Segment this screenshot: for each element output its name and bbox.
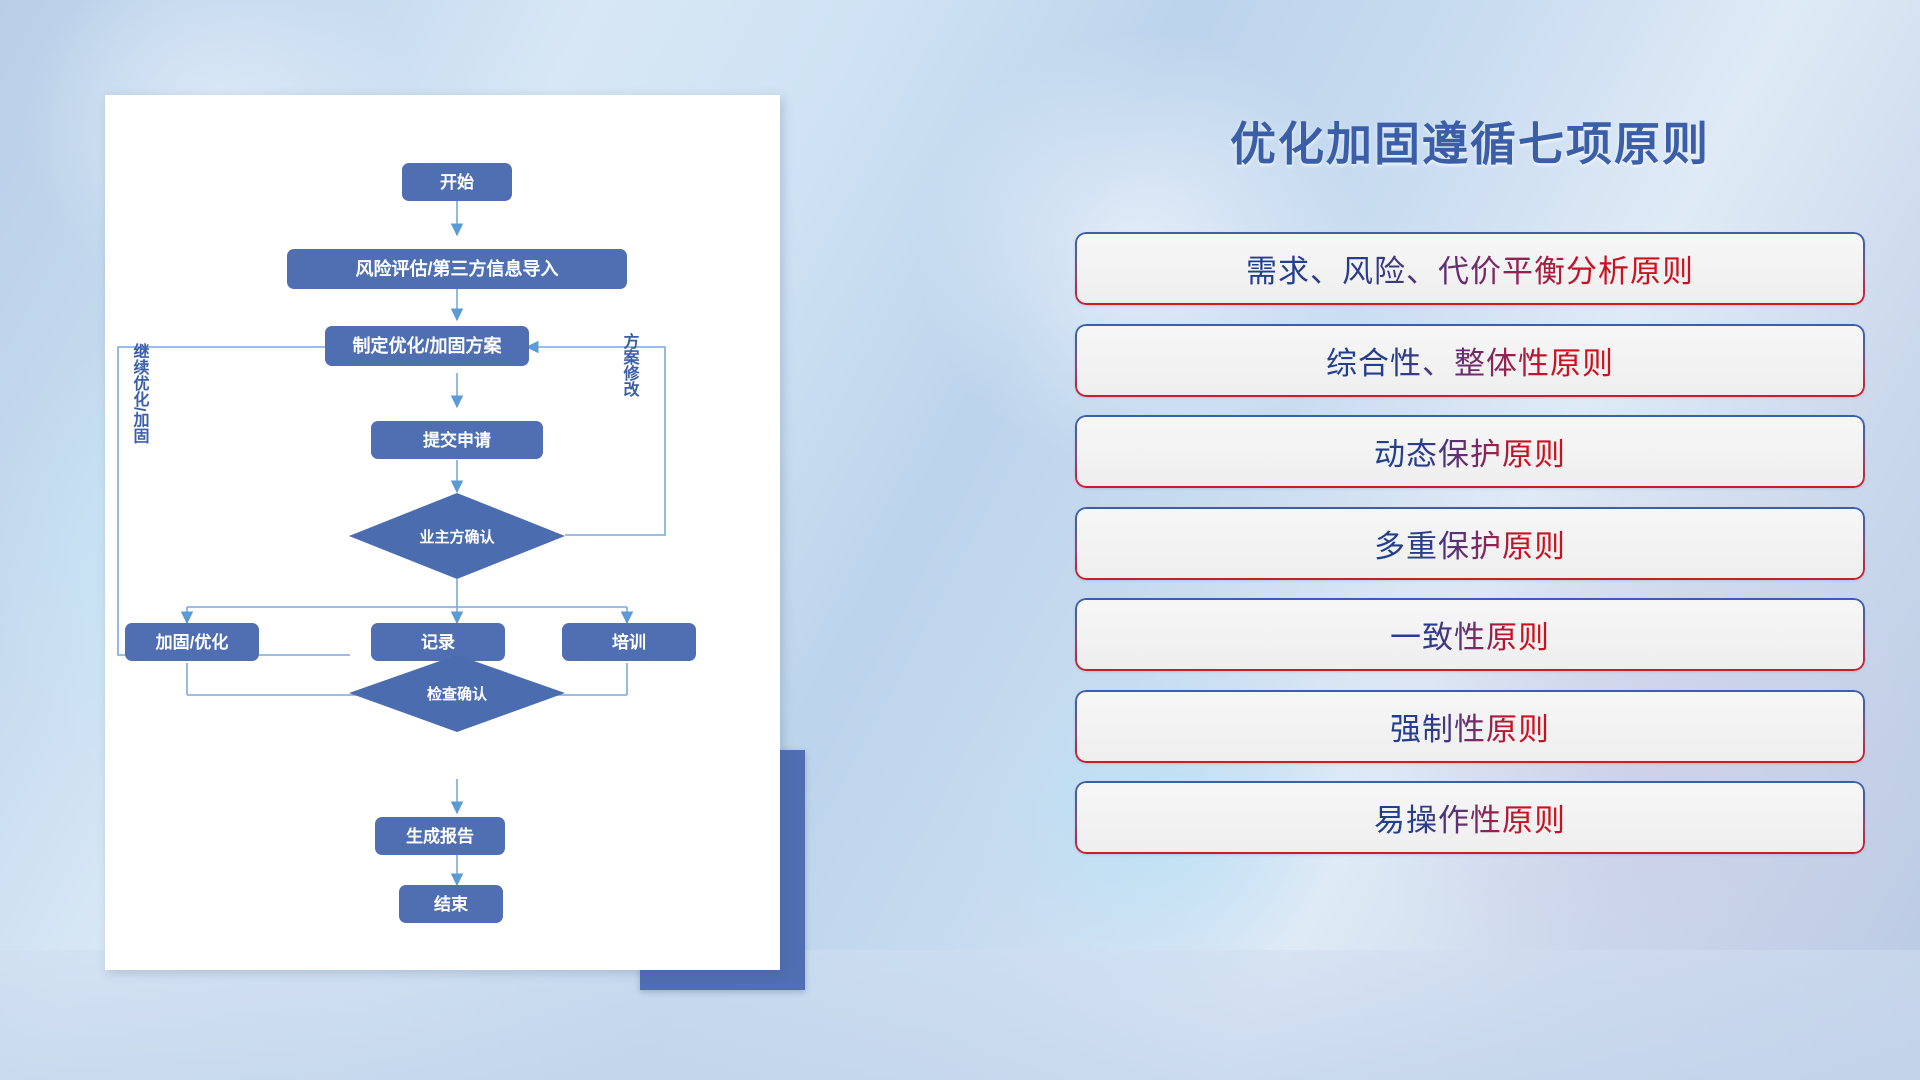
principle-item[interactable]: 多重保护原则 [1075, 507, 1865, 580]
node-inspect-confirm-label: 检查确认 [427, 685, 488, 703]
panel-title: 优化加固遵循七项原则 [1020, 108, 1920, 174]
flowchart-card: 开始 风险评估/第三方信息导入 制定优化/加固方案 提交申请 业主方确认 加固/ [105, 95, 780, 970]
node-generate-report[interactable]: 生成报告 [375, 817, 505, 855]
node-record-label: 记录 [421, 633, 455, 652]
connector-right-loop-to-plan [527, 347, 665, 535]
node-owner-confirm-label: 业主方确认 [419, 528, 495, 546]
node-reinforce-optimize-label: 加固/优化 [155, 632, 229, 652]
principle-label: 易操作性原则 [1374, 795, 1566, 840]
node-submit-application[interactable]: 提交申请 [371, 421, 543, 459]
node-risk-assessment-label: 风险评估/第三方信息导入 [356, 258, 559, 279]
node-start[interactable]: 开始 [402, 163, 512, 201]
node-submit-application-label: 提交申请 [423, 430, 491, 450]
principles-panel: 优化加固遵循七项原则 需求、风险、代价平衡分析原则 综合性、整体性原则 动态保护… [1020, 0, 1920, 1080]
node-training[interactable]: 培训 [562, 623, 696, 661]
node-make-plan[interactable]: 制定优化/加固方案 [325, 326, 529, 366]
node-start-label: 开始 [440, 172, 474, 192]
principle-label: 需求、风险、代价平衡分析原则 [1246, 246, 1694, 291]
principle-item[interactable]: 综合性、整体性原则 [1075, 324, 1865, 397]
principle-item[interactable]: 一致性原则 [1075, 598, 1865, 671]
node-record[interactable]: 记录 [371, 623, 505, 661]
node-reinforce-optimize[interactable]: 加固/优化 [125, 623, 259, 661]
node-end-label: 结束 [434, 894, 468, 914]
principle-label: 综合性、整体性原则 [1326, 338, 1614, 383]
principle-item[interactable]: 易操作性原则 [1075, 781, 1865, 854]
connector-left-loop-to-plan [118, 347, 391, 655]
principle-item[interactable]: 动态保护原则 [1075, 415, 1865, 488]
node-generate-report-label: 生成报告 [406, 826, 474, 846]
principle-label: 一致性原则 [1390, 612, 1550, 657]
node-owner-confirm[interactable]: 业主方确认 [349, 493, 565, 579]
principle-label: 动态保护原则 [1374, 429, 1566, 474]
principle-label: 强制性原则 [1390, 704, 1550, 749]
edge-label-left-loop: 继续优化/加固 [131, 342, 151, 444]
principles-list: 需求、风险、代价平衡分析原则 综合性、整体性原则 动态保护原则 多重保护原则 一… [1020, 232, 1920, 854]
node-inspect-confirm[interactable]: 检查确认 [349, 655, 565, 732]
principle-item[interactable]: 需求、风险、代价平衡分析原则 [1075, 232, 1865, 305]
edge-label-right-loop: 方案修改 [621, 332, 641, 398]
node-make-plan-label: 制定优化/加固方案 [352, 335, 502, 356]
principle-label: 多重保护原则 [1374, 521, 1566, 566]
principle-item[interactable]: 强制性原则 [1075, 690, 1865, 763]
node-training-label: 培训 [612, 632, 646, 652]
node-risk-assessment[interactable]: 风险评估/第三方信息导入 [287, 249, 627, 289]
flowchart-diagram: 开始 风险评估/第三方信息导入 制定优化/加固方案 提交申请 业主方确认 加固/ [105, 95, 780, 970]
slide-canvas: 开始 风险评估/第三方信息导入 制定优化/加固方案 提交申请 业主方确认 加固/ [0, 0, 1920, 1080]
node-end[interactable]: 结束 [399, 885, 503, 923]
